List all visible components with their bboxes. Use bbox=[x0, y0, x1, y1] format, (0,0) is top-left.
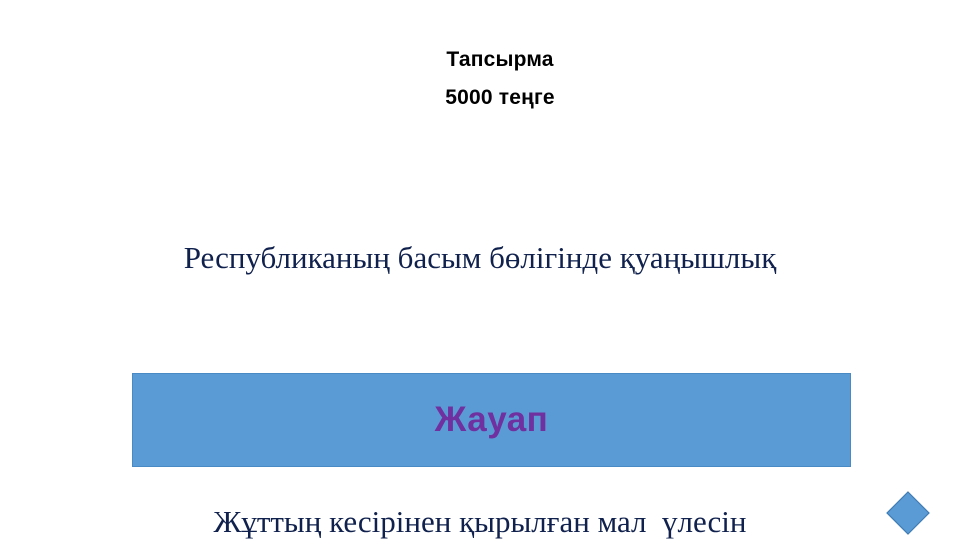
diamond-icon bbox=[884, 489, 932, 537]
question-line-3: Жұттың кесірінен қырылған мал үлесін bbox=[60, 500, 900, 540]
question-line-1: Республиканың басым бөлігінде қуаңышлық bbox=[60, 236, 900, 280]
task-amount: 5000 теңге bbox=[260, 82, 740, 114]
next-slide-button[interactable] bbox=[884, 489, 932, 537]
question-text: Республиканың басым бөлігінде қуаңышлық … bbox=[60, 148, 900, 540]
show-answer-button[interactable]: Жауап bbox=[132, 373, 851, 467]
slide-header: Тапсырма 5000 теңге bbox=[260, 44, 740, 114]
task-title: Тапсырма bbox=[260, 44, 740, 76]
show-answer-button-label: Жауап bbox=[435, 400, 549, 440]
quiz-slide: Тапсырма 5000 теңге Республиканың басым … bbox=[0, 0, 960, 540]
